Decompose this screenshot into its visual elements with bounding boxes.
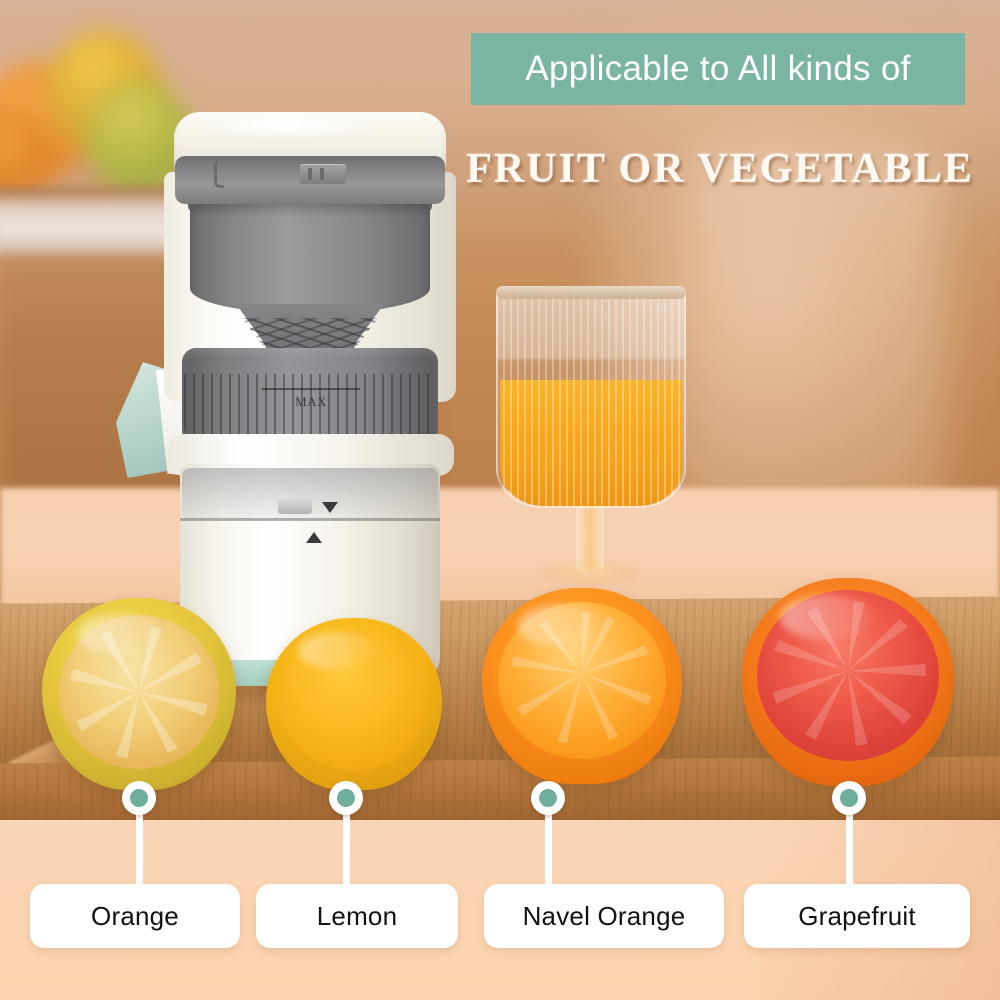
fruit-half-navel-orange xyxy=(482,588,682,784)
glass-fluted-ribs xyxy=(496,286,686,508)
max-fill-label: MAX xyxy=(268,394,354,412)
callout-marker-grapefruit[interactable] xyxy=(832,781,866,815)
juicer-lid-highlight xyxy=(196,118,376,134)
juicer-pressing-cup xyxy=(190,204,430,314)
callout-label-lemon[interactable]: Lemon xyxy=(256,884,458,948)
juicer-collar-notch xyxy=(214,162,224,188)
glass-stem xyxy=(576,498,604,570)
callout-connector-line xyxy=(545,812,552,890)
callout-label-grapefruit[interactable]: Grapefruit xyxy=(744,884,970,948)
headline-banner: Applicable to All kinds of xyxy=(471,33,965,105)
callout-label-orange[interactable]: Orange xyxy=(30,884,240,948)
callout-marker-navel-orange[interactable] xyxy=(531,781,565,815)
headline-text: Applicable to All kinds of xyxy=(525,49,910,89)
subheadline: FRUIT OR VEGETABLE xyxy=(455,140,985,198)
juice-glass xyxy=(496,286,686,586)
subheadline-text: FRUIT OR VEGETABLE xyxy=(466,145,973,193)
lemon-highlight xyxy=(298,632,375,670)
navel-orange-highlight xyxy=(518,604,606,647)
callout-label-navel-orange[interactable]: Navel Orange xyxy=(484,884,724,948)
callout-marker-lemon[interactable] xyxy=(329,781,363,815)
product-feature-graphic: MAX xyxy=(0,0,1000,1000)
callout-connector-line xyxy=(136,812,143,890)
glass-rim xyxy=(496,286,686,299)
marker-dot-icon xyxy=(539,789,557,807)
callout-connector-line xyxy=(846,812,853,890)
callout-connector-line xyxy=(343,812,350,890)
orange-highlight xyxy=(77,613,162,655)
unlock-arrow-up-icon xyxy=(306,532,322,543)
callout-label-text: Navel Orange xyxy=(523,901,686,932)
callout-label-text: Grapefruit xyxy=(798,901,916,932)
juicer-latch xyxy=(278,498,312,514)
juicer-collar-tab xyxy=(300,164,346,184)
fruit-half-grapefruit xyxy=(742,578,954,786)
fruit-half-lemon xyxy=(266,618,442,790)
marker-dot-icon xyxy=(840,789,858,807)
marker-dot-icon xyxy=(337,789,355,807)
marker-dot-icon xyxy=(130,789,148,807)
juicer-base-seam xyxy=(180,518,440,521)
callout-label-text: Orange xyxy=(91,901,179,932)
lock-arrow-down-icon xyxy=(322,502,338,513)
callout-marker-orange[interactable] xyxy=(122,781,156,815)
fruit-half-orange xyxy=(42,598,236,790)
callout-label-text: Lemon xyxy=(317,901,398,932)
